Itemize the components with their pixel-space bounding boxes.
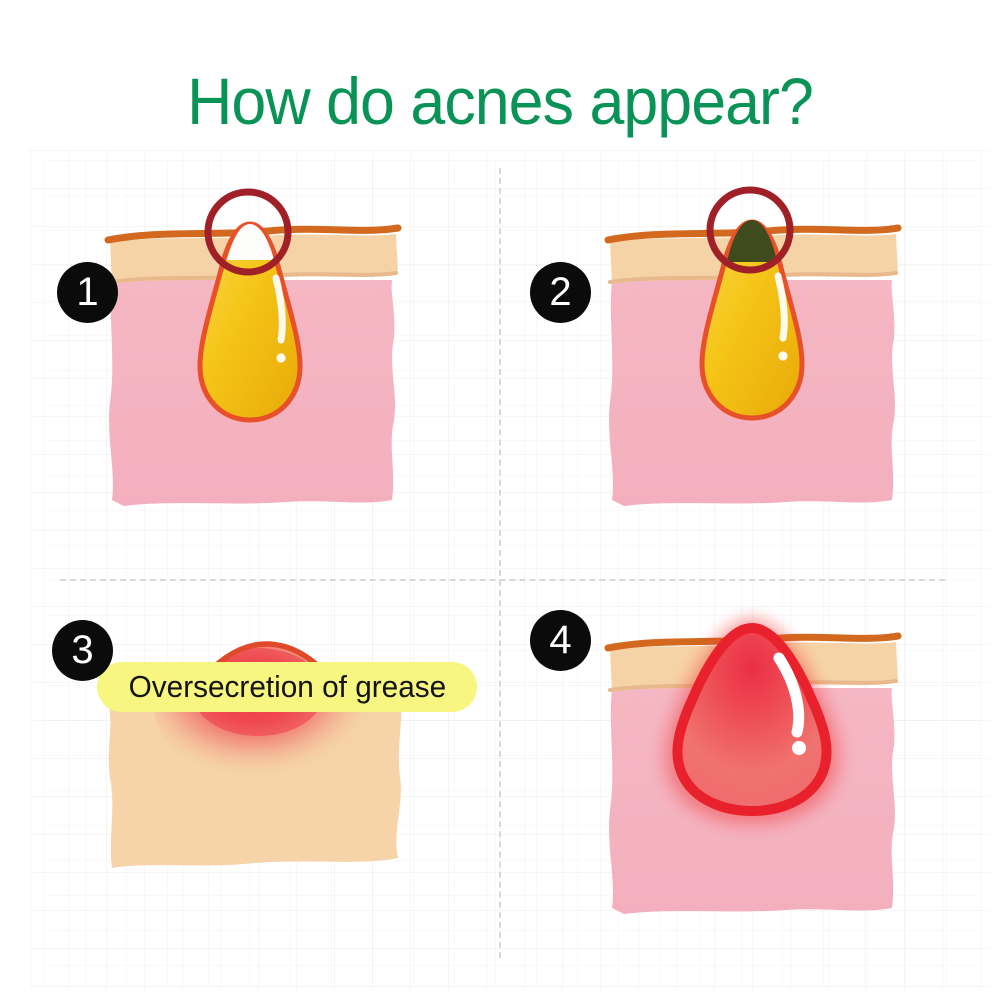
illustration-oversecretion-of-grease xyxy=(0,170,500,590)
panel-step-1: 1 xyxy=(0,170,500,580)
panel-step-4: 4 xyxy=(500,580,1000,1000)
white-highlight-dot xyxy=(792,741,806,755)
panel-step-2: 2 Ap xyxy=(500,170,1000,580)
step-badge-4: 4 xyxy=(530,610,591,671)
infographic-canvas: How do acnes appear? 1 xyxy=(0,0,1000,1000)
step-badge-3: 3 xyxy=(52,620,113,681)
oil-highlight-dot xyxy=(276,353,285,362)
oil-highlight-dot xyxy=(778,351,787,360)
step-badge-1: 1 xyxy=(57,262,118,323)
panel-label-1: Oversecretion of grease xyxy=(97,662,477,712)
page-title: How do acnes appear? xyxy=(25,68,975,134)
illustration-appearance-of-blackheads xyxy=(500,170,1000,590)
blackhead-plug xyxy=(727,220,777,262)
step-badge-2: 2 xyxy=(530,262,591,323)
panel-label-text-1: Oversecretion of grease xyxy=(128,669,446,705)
panel-step-3: 3 xyxy=(0,580,500,1000)
